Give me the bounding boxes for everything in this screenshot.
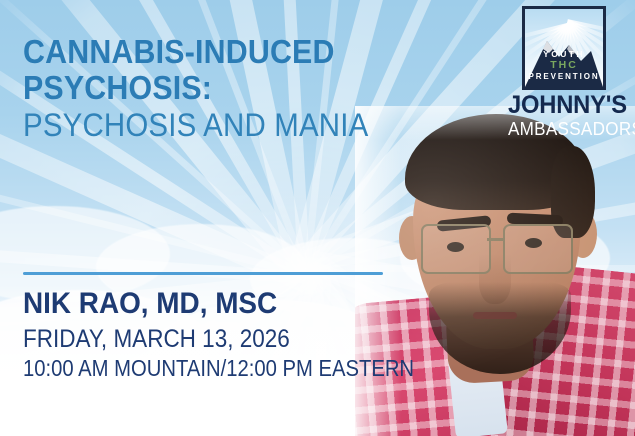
glasses-bridge: [487, 238, 503, 241]
badge-line-thc: THC: [525, 59, 603, 71]
badge-line-prevention: PREVENTION: [525, 72, 603, 81]
speaker-name: NIK RAO, MD, MSC: [23, 289, 395, 320]
eyeglasses-icon: [421, 224, 579, 276]
event-date: FRIDAY, MARCH 13, 2026: [23, 326, 383, 352]
lens-left: [421, 224, 491, 274]
brand-name-primary: JOHNNY'S: [508, 93, 620, 118]
badge-text-block: YOUTH THC PREVENTION: [525, 49, 603, 81]
webinar-poster: CANNABIS-INDUCED PSYCHOSIS: PSYCHOSIS AN…: [0, 0, 635, 436]
badge-line-youth: YOUTH: [525, 49, 603, 59]
youth-thc-prevention-badge: YOUTH THC PREVENTION: [522, 6, 606, 90]
organization-logo[interactable]: YOUTH THC PREVENTION JOHNNY'S AMBASSADOR…: [505, 6, 623, 138]
brand-name-secondary: AMBASSADORS: [508, 120, 620, 138]
speaker-portrait-photo: [355, 106, 635, 436]
headline-line-2: PSYCHOSIS:: [23, 72, 373, 104]
section-divider: [23, 272, 383, 275]
lens-right: [503, 224, 573, 274]
event-time: 10:00 AM MOUNTAIN/12:00 PM EASTERN: [23, 357, 375, 381]
headline-line-1: CANNABIS-INDUCED: [23, 36, 373, 68]
mouth: [473, 312, 517, 319]
headline-block: CANNABIS-INDUCED PSYCHOSIS: PSYCHOSIS AN…: [23, 36, 403, 141]
speaker-info-block: NIK RAO, MD, MSC FRIDAY, MARCH 13, 2026 …: [23, 289, 423, 381]
headline-line-3: PSYCHOSIS AND MANIA: [23, 110, 373, 141]
